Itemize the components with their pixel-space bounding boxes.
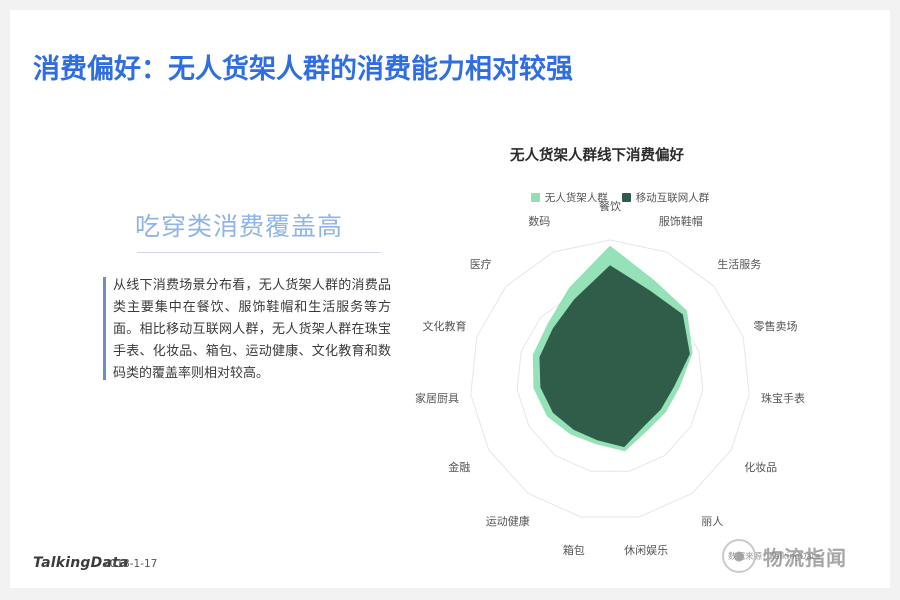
- slide-edge-bottom: [0, 588, 900, 600]
- watermark-label: 物流指闻: [763, 542, 847, 571]
- legend-item-0: 无人货架人群: [531, 190, 608, 205]
- radar-axis-label-8: 箱包: [563, 542, 585, 558]
- radar-axis-label-2: 生活服务: [717, 256, 761, 272]
- radar-axis-label-5: 化妆品: [744, 459, 777, 475]
- watermark-circle-icon: ●: [722, 539, 756, 573]
- radar-axis-label-13: 医疗: [470, 256, 492, 272]
- legend-label-1: 移动互联网人群: [636, 190, 710, 205]
- footer-date: 2018-1-17: [103, 558, 157, 570]
- chart-title: 无人货架人群线下消费偏好: [510, 144, 684, 165]
- legend-item-1: 移动互联网人群: [622, 190, 710, 205]
- legend-swatch-icon-0: [531, 193, 540, 202]
- radar-axis-label-1: 服饰鞋帽: [659, 213, 703, 229]
- radar-chart: 餐饮服饰鞋帽生活服务零售卖场珠宝手表化妆品丽人休闲娱乐箱包运动健康金融家居厨具文…: [420, 215, 840, 565]
- radar-axis-label-4: 珠宝手表: [761, 390, 805, 406]
- radar-axis-label-0: 餐饮: [599, 198, 621, 214]
- watermark: ● 物流指闻: [722, 534, 882, 578]
- radar-axis-label-3: 零售卖场: [753, 318, 797, 334]
- slide-canvas: 消费偏好：无人货架人群的消费能力相对较强 吃穿类消费覆盖高 从线下消费场景分布看…: [0, 0, 900, 600]
- radar-axis-label-9: 运动健康: [486, 513, 530, 529]
- body-accent-bar: [103, 277, 106, 380]
- radar-axis-label-6: 丽人: [701, 513, 723, 529]
- body-paragraph: 从线下消费场景分布看，无人货架人群的消费品类主要集中在餐饮、服饰鞋帽和生活服务等…: [113, 275, 391, 385]
- page-title: 消费偏好：无人货架人群的消费能力相对较强: [33, 47, 573, 86]
- slide-edge-top: [0, 0, 900, 10]
- radar-axis-label-14: 数码: [528, 213, 550, 229]
- slide-edge-right: [890, 0, 900, 600]
- legend-swatch-icon-1: [622, 193, 631, 202]
- headline-divider: [137, 252, 381, 253]
- radar-axis-label-10: 金融: [448, 459, 470, 475]
- radar-axis-label-7: 休闲娱乐: [624, 542, 668, 558]
- radar-axis-label-11: 家居厨具: [415, 390, 459, 406]
- radar-axis-label-12: 文化教育: [423, 318, 467, 334]
- section-headline: 吃穿类消费覆盖高: [135, 207, 343, 243]
- slide-edge-left: [0, 0, 10, 600]
